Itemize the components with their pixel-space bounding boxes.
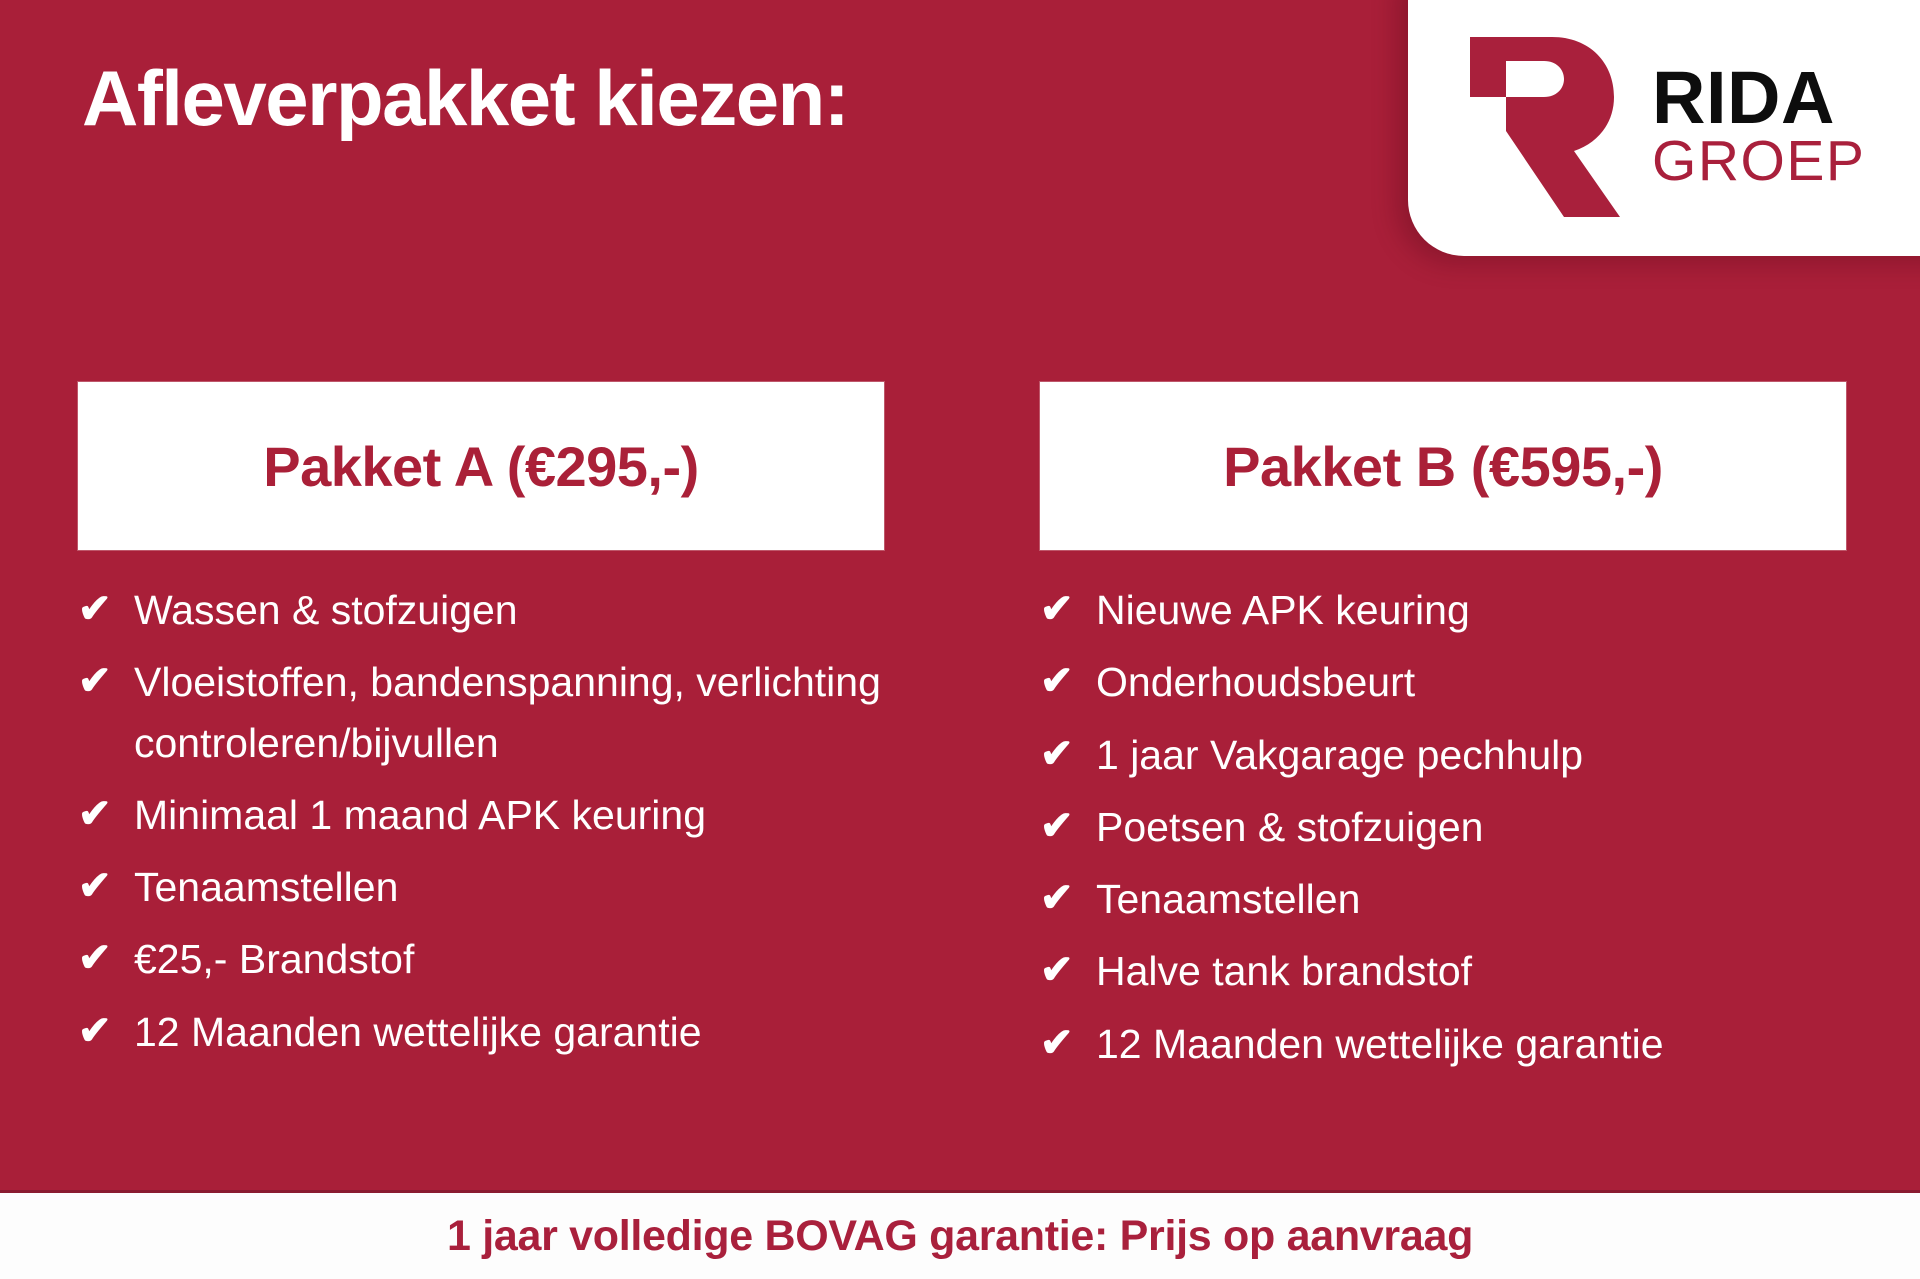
check-icon: ✔ — [1040, 941, 1096, 1000]
feature-label: Halve tank brandstof — [1096, 941, 1846, 1001]
package-column-a: Pakket A (€295,-) ✔ Wassen & stofzuigen … — [78, 382, 884, 1074]
check-icon: ✔ — [1040, 725, 1096, 784]
page-title: Afleverpakket kiezen: — [82, 58, 1142, 140]
list-item: ✔ Tenaamstellen — [78, 857, 884, 917]
brand-name-primary: RIDA — [1652, 63, 1865, 133]
package-b-feature-list: ✔ Nieuwe APK keuring ✔ Onderhoudsbeurt ✔… — [1040, 580, 1846, 1074]
brand-name-secondary: GROEP — [1652, 135, 1865, 189]
package-a-header-card[interactable]: Pakket A (€295,-) — [78, 382, 884, 550]
package-column-b: Pakket B (€595,-) ✔ Nieuwe APK keuring ✔… — [1040, 382, 1846, 1086]
afleverpakket-poster: Afleverpakket kiezen: RIDA GROEP Pakket … — [0, 0, 1920, 1279]
feature-label: Wassen & stofzuigen — [134, 580, 884, 640]
feature-label: Poetsen & stofzuigen — [1096, 797, 1846, 857]
list-item: ✔ €25,- Brandstof — [78, 929, 884, 989]
feature-label: 12 Maanden wettelijke garantie — [1096, 1014, 1846, 1074]
check-icon: ✔ — [78, 652, 134, 711]
check-icon: ✔ — [78, 929, 134, 988]
package-b-header-card[interactable]: Pakket B (€595,-) — [1040, 382, 1846, 550]
list-item: ✔ Onderhoudsbeurt — [1040, 652, 1846, 712]
feature-label: Onderhoudsbeurt — [1096, 652, 1846, 712]
feature-label: 12 Maanden wettelijke garantie — [134, 1002, 884, 1062]
list-item: ✔ 12 Maanden wettelijke garantie — [1040, 1014, 1846, 1074]
check-icon: ✔ — [78, 580, 134, 639]
check-icon: ✔ — [1040, 1014, 1096, 1073]
package-a-title: Pakket A (€295,-) — [263, 434, 699, 499]
package-a-feature-list: ✔ Wassen & stofzuigen ✔ Vloeistoffen, ba… — [78, 580, 884, 1062]
list-item: ✔ Poetsen & stofzuigen — [1040, 797, 1846, 857]
rida-r-mark-icon — [1444, 31, 1630, 217]
feature-label: Vloeistoffen, bandenspanning, verlichtin… — [134, 652, 884, 773]
feature-label: Minimaal 1 maand APK keuring — [134, 785, 884, 845]
feature-label: €25,- Brandstof — [134, 929, 884, 989]
list-item: ✔ Tenaamstellen — [1040, 869, 1846, 929]
list-item: ✔ Wassen & stofzuigen — [78, 580, 884, 640]
check-icon: ✔ — [1040, 869, 1096, 928]
list-item: ✔ 1 jaar Vakgarage pechhulp — [1040, 725, 1846, 785]
footer-guarantee-text: 1 jaar volledige BOVAG garantie: Prijs o… — [447, 1212, 1473, 1261]
list-item: ✔ Nieuwe APK keuring — [1040, 580, 1846, 640]
brand-logo-panel: RIDA GROEP — [1408, 0, 1920, 256]
check-icon: ✔ — [1040, 580, 1096, 639]
feature-label: Nieuwe APK keuring — [1096, 580, 1846, 640]
list-item: ✔ Vloeistoffen, bandenspanning, verlicht… — [78, 652, 884, 773]
list-item: ✔ Halve tank brandstof — [1040, 941, 1846, 1001]
check-icon: ✔ — [1040, 797, 1096, 856]
check-icon: ✔ — [78, 857, 134, 916]
package-b-title: Pakket B (€595,-) — [1223, 434, 1663, 499]
check-icon: ✔ — [78, 785, 134, 844]
list-item: ✔ 12 Maanden wettelijke garantie — [78, 1002, 884, 1062]
feature-label: Tenaamstellen — [134, 857, 884, 917]
brand-wordmark: RIDA GROEP — [1652, 63, 1865, 188]
check-icon: ✔ — [78, 1002, 134, 1061]
feature-label: 1 jaar Vakgarage pechhulp — [1096, 725, 1846, 785]
footer-bar: 1 jaar volledige BOVAG garantie: Prijs o… — [0, 1190, 1920, 1279]
list-item: ✔ Minimaal 1 maand APK keuring — [78, 785, 884, 845]
check-icon: ✔ — [1040, 652, 1096, 711]
feature-label: Tenaamstellen — [1096, 869, 1846, 929]
